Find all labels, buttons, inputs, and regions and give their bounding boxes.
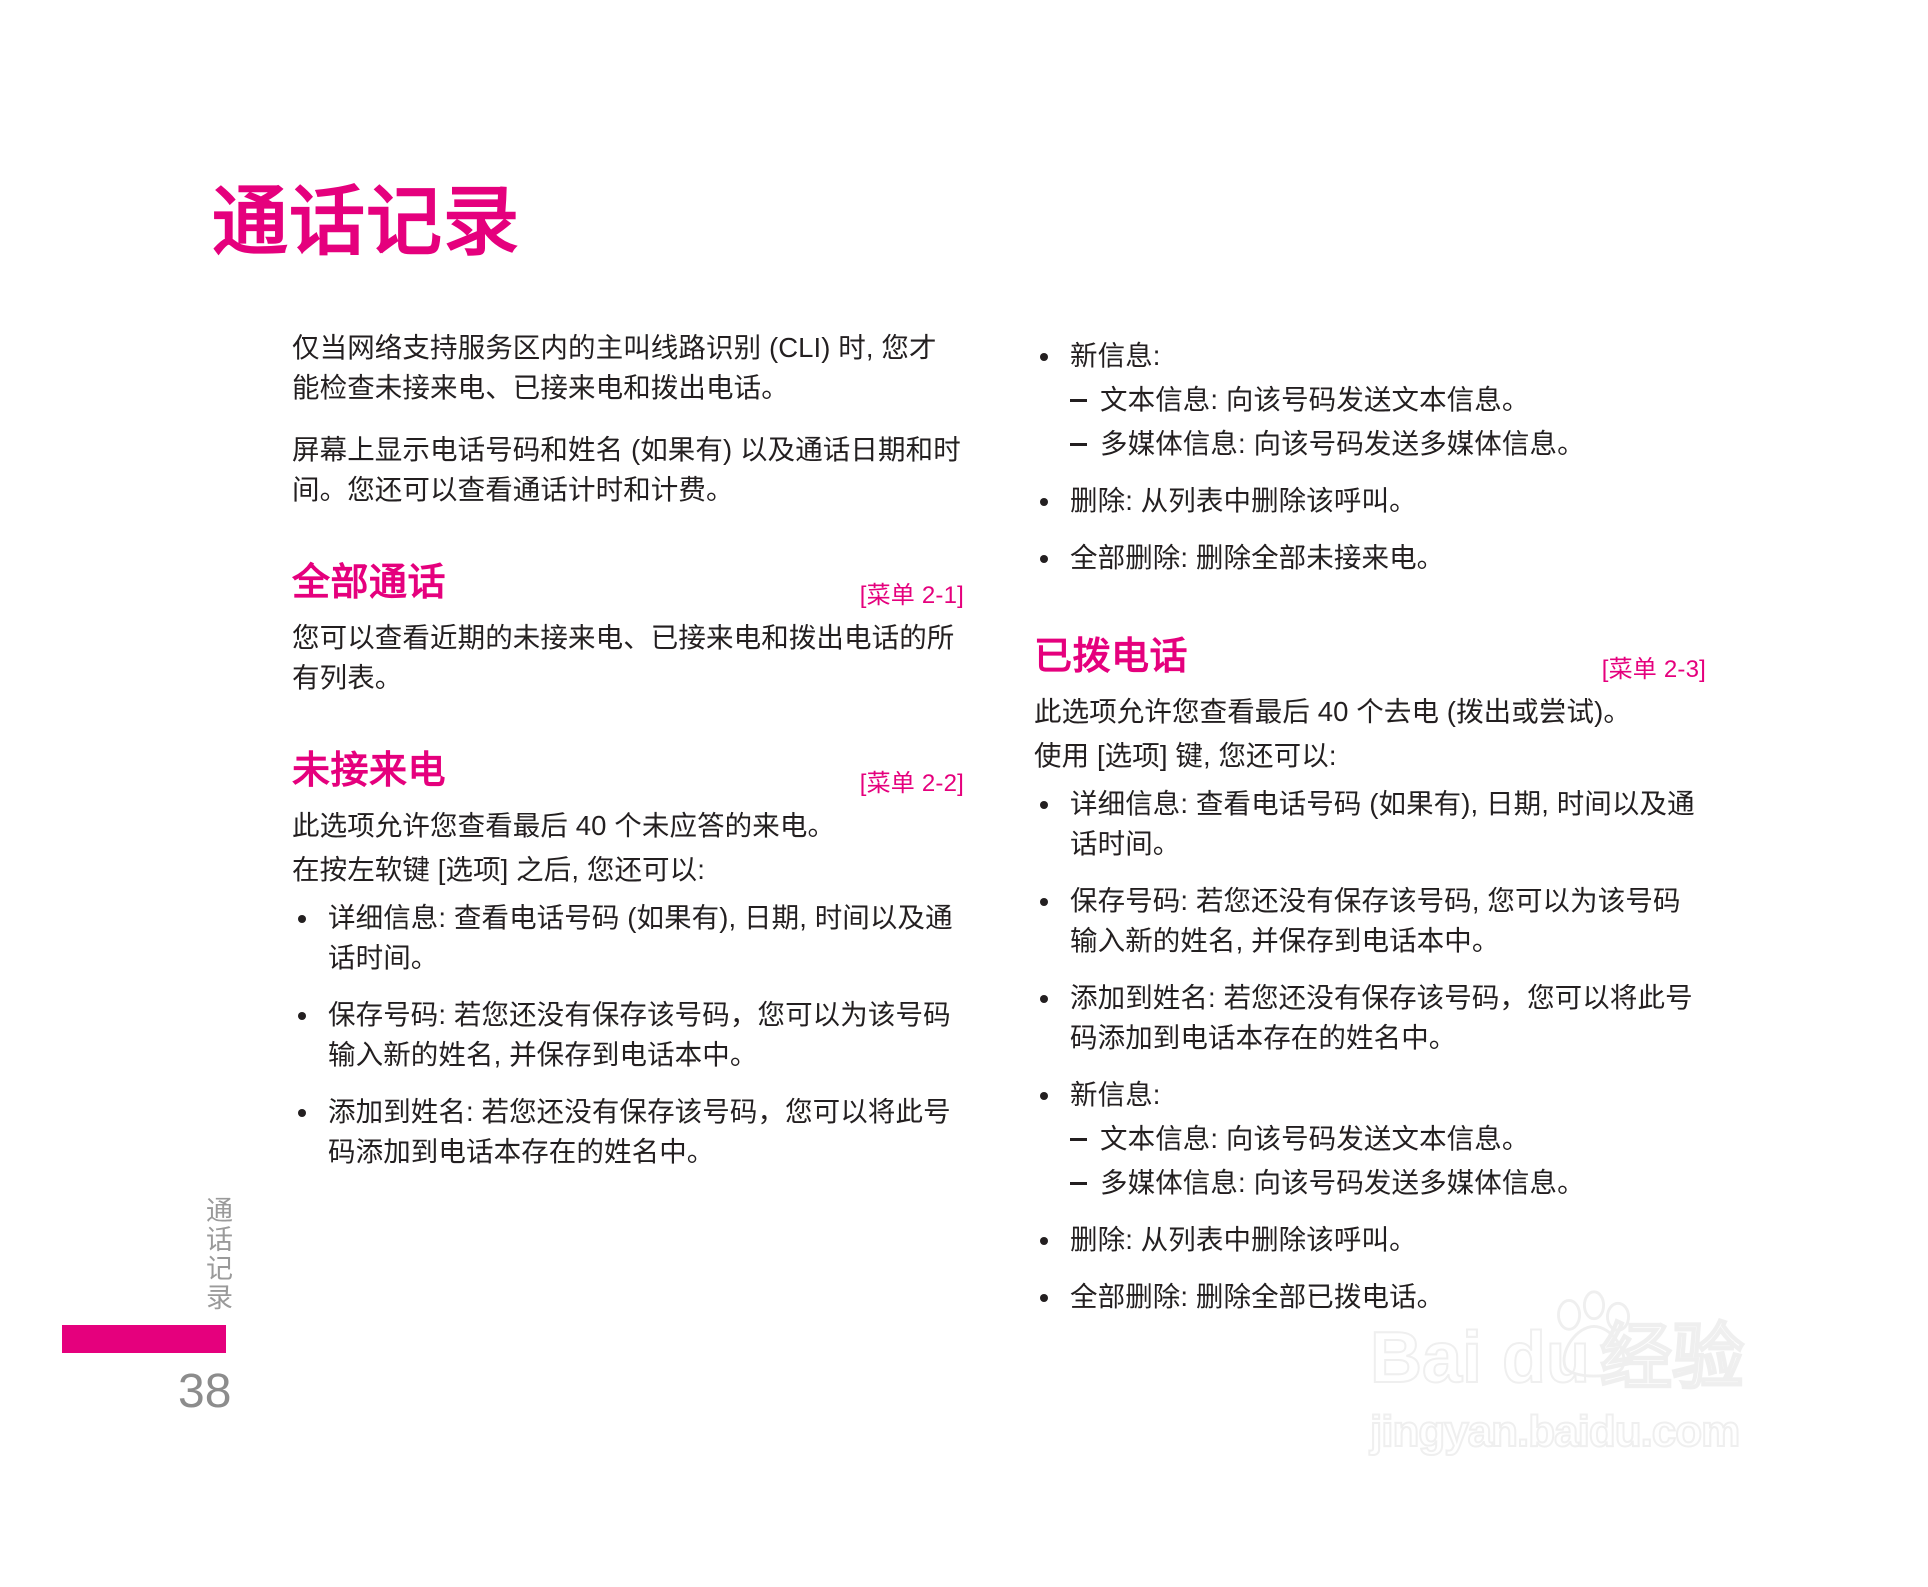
list-item: 删除: 从列表中删除该呼叫。 — [1034, 481, 1706, 521]
sub-list-item-label: 多媒体信息: 向该号码发送多媒体信息。 — [1100, 1167, 1585, 1198]
bullet-dot-icon — [1040, 555, 1048, 563]
list-item-label: 详细信息: 查看电话号码 (如果有), 日期, 时间以及通话时间。 — [328, 902, 953, 973]
sub-list-item: 多媒体信息: 向该号码发送多媒体信息。 — [1070, 424, 1706, 464]
section-body-all-calls: 您可以查看近期的未接来电、已接来电和拨出电话的所有列表。 — [292, 618, 964, 698]
list-item-label: 添加到姓名: 若您还没有保存该号码，您可以将此号码添加到电话本存在的姓名中。 — [1070, 982, 1693, 1053]
list-item: 添加到姓名: 若您还没有保存该号码，您可以将此号码添加到电话本存在的姓名中。 — [1034, 978, 1706, 1058]
list-item-label: 全部删除: 删除全部未接来电。 — [1070, 542, 1444, 573]
list-item-label: 新信息: — [1070, 1079, 1161, 1110]
baidu-jingyan-watermark: Bai du 经验 jingyan.baidu.com — [1370, 1322, 1810, 1454]
section-menu-tag-all-calls: [菜单 2-1] — [860, 575, 964, 610]
chapter-color-bar — [62, 1325, 226, 1353]
bullet-dot-icon — [1040, 498, 1048, 506]
intro-paragraph-1: 仅当网络支持服务区内的主叫线路识别 (CLI) 时, 您才能检查未接来电、已接来… — [292, 328, 964, 408]
new-message-sublist: 文本信息: 向该号码发送文本信息。 多媒体信息: 向该号码发送多媒体信息。 — [1070, 380, 1706, 464]
sub-list-item-label: 多媒体信息: 向该号码发送多媒体信息。 — [1100, 428, 1585, 459]
section-header-all-calls: 全部通话 [菜单 2-1] — [292, 562, 964, 612]
left-column: 仅当网络支持服务区内的主叫线路识别 (CLI) 时, 您才能检查未接来电、已接来… — [292, 328, 964, 1189]
sub-list-item-label: 文本信息: 向该号码发送文本信息。 — [1100, 1123, 1529, 1154]
bullet-dot-icon — [1040, 353, 1048, 361]
list-item-label: 详细信息: 查看电话号码 (如果有), 日期, 时间以及通话时间。 — [1070, 788, 1695, 859]
dash-bullet-icon — [1070, 399, 1087, 402]
list-item: 新信息: 文本信息: 向该号码发送文本信息。 多媒体信息: 向该号码发送多媒体信… — [1034, 336, 1706, 464]
list-item-label: 删除: 从列表中删除该呼叫。 — [1070, 485, 1417, 516]
section-body-missed-calls-line-2: 在按左软键 [选项] 之后, 您还可以: — [292, 850, 964, 890]
dialled-calls-option-list: 详细信息: 查看电话号码 (如果有), 日期, 时间以及通话时间。 保存号码: … — [1034, 784, 1706, 1317]
list-item-label: 全部删除: 删除全部已拨电话。 — [1070, 1281, 1444, 1312]
section-menu-tag-dialled-calls: [菜单 2-3] — [1602, 649, 1706, 684]
sub-list-item: 文本信息: 向该号码发送文本信息。 — [1070, 380, 1706, 420]
list-item: 添加到姓名: 若您还没有保存该号码，您可以将此号码添加到电话本存在的姓名中。 — [292, 1092, 964, 1172]
section-title-all-calls: 全部通话 — [292, 562, 446, 606]
sub-list-item: 文本信息: 向该号码发送文本信息。 — [1070, 1119, 1706, 1159]
list-item-label: 新信息: — [1070, 340, 1161, 371]
bullet-dot-icon — [298, 1012, 306, 1020]
bullet-dot-icon — [1040, 801, 1048, 809]
list-item: 保存号码: 若您还没有保存该号码, 您可以为该号码输入新的姓名, 并保存到电话本… — [1034, 881, 1706, 961]
bullet-dot-icon — [1040, 995, 1048, 1003]
section-menu-tag-missed-calls: [菜单 2-2] — [860, 763, 964, 798]
list-item: 全部删除: 删除全部未接来电。 — [1034, 538, 1706, 578]
bullet-dot-icon — [1040, 898, 1048, 906]
bullet-dot-icon — [1040, 1092, 1048, 1100]
section-header-dialled-calls: 已拨电话 [菜单 2-3] — [1034, 636, 1706, 686]
missed-calls-option-list: 详细信息: 查看电话号码 (如果有), 日期, 时间以及通话时间。 保存号码: … — [292, 898, 964, 1172]
list-item: 新信息: 文本信息: 向该号码发送文本信息。 多媒体信息: 向该号码发送多媒体信… — [1034, 1075, 1706, 1203]
bullet-dot-icon — [1040, 1237, 1048, 1245]
right-column: 新信息: 文本信息: 向该号码发送文本信息。 多媒体信息: 向该号码发送多媒体信… — [1034, 328, 1706, 1334]
side-tab-chapter-label: 通话记录 — [196, 1196, 230, 1312]
list-item-label: 保存号码: 若您还没有保存该号码，您可以为该号码输入新的姓名, 并保存到电话本中… — [328, 999, 951, 1070]
list-item-label: 删除: 从列表中删除该呼叫。 — [1070, 1224, 1417, 1255]
list-item-label: 保存号码: 若您还没有保存该号码, 您可以为该号码输入新的姓名, 并保存到电话本… — [1070, 885, 1681, 956]
page-title: 通话记录 — [212, 185, 520, 261]
manual-page: 通话记录 仅当网络支持服务区内的主叫线路识别 (CLI) 时, 您才能检查未接来… — [0, 0, 1928, 1587]
list-item: 保存号码: 若您还没有保存该号码，您可以为该号码输入新的姓名, 并保存到电话本中… — [292, 995, 964, 1075]
list-item: 详细信息: 查看电话号码 (如果有), 日期, 时间以及通话时间。 — [1034, 784, 1706, 864]
bullet-dot-icon — [1040, 1294, 1048, 1302]
watermark-url: jingyan.baidu.com — [1370, 1410, 1810, 1454]
dash-bullet-icon — [1070, 1182, 1087, 1185]
list-item-label: 添加到姓名: 若您还没有保存该号码，您可以将此号码添加到电话本存在的姓名中。 — [328, 1096, 951, 1167]
dash-bullet-icon — [1070, 1138, 1087, 1141]
missed-calls-option-list-continued: 新信息: 文本信息: 向该号码发送文本信息。 多媒体信息: 向该号码发送多媒体信… — [1034, 336, 1706, 578]
list-item: 详细信息: 查看电话号码 (如果有), 日期, 时间以及通话时间。 — [292, 898, 964, 978]
section-body-missed-calls-line-1: 此选项允许您查看最后 40 个未应答的来电。 — [292, 806, 964, 846]
page-number: 38 — [178, 1368, 231, 1416]
list-item: 删除: 从列表中删除该呼叫。 — [1034, 1220, 1706, 1260]
section-body-dialled-calls-line-2: 使用 [选项] 键, 您还可以: — [1034, 736, 1706, 776]
section-title-missed-calls: 未接来电 — [292, 750, 446, 794]
new-message-sublist: 文本信息: 向该号码发送文本信息。 多媒体信息: 向该号码发送多媒体信息。 — [1070, 1119, 1706, 1203]
section-header-missed-calls: 未接来电 [菜单 2-2] — [292, 750, 964, 800]
sub-list-item-label: 文本信息: 向该号码发送文本信息。 — [1100, 384, 1529, 415]
intro-paragraph-2: 屏幕上显示电话号码和姓名 (如果有) 以及通话日期和时间。您还可以查看通话计时和… — [292, 430, 964, 510]
bullet-dot-icon — [298, 1109, 306, 1117]
list-item: 全部删除: 删除全部已拨电话。 — [1034, 1277, 1706, 1317]
dash-bullet-icon — [1070, 443, 1087, 446]
sub-list-item: 多媒体信息: 向该号码发送多媒体信息。 — [1070, 1163, 1706, 1203]
section-title-dialled-calls: 已拨电话 — [1034, 636, 1188, 680]
bullet-dot-icon — [298, 915, 306, 923]
section-body-dialled-calls-line-1: 此选项允许您查看最后 40 个去电 (拨出或尝试)。 — [1034, 692, 1706, 732]
